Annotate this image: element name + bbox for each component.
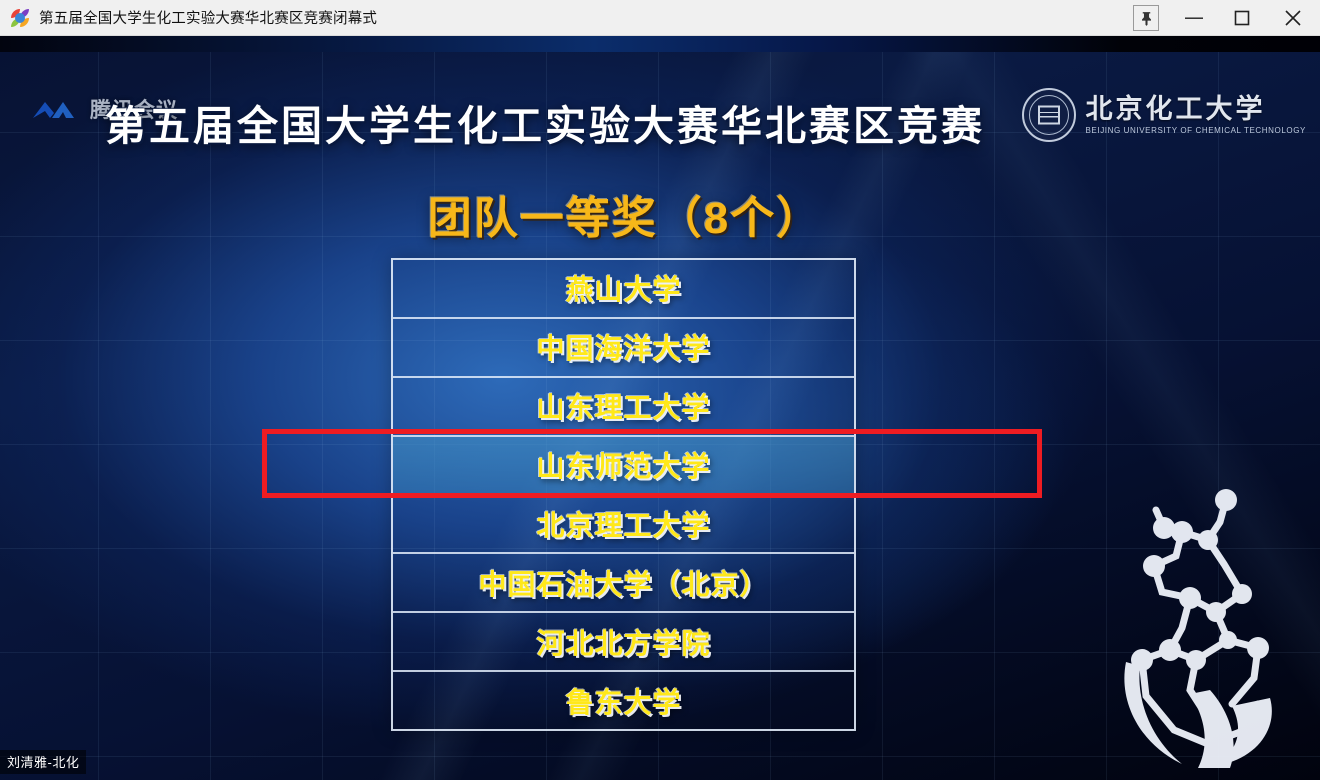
buct-seal-icon	[1022, 88, 1076, 142]
molecule-structure-icon	[1112, 482, 1302, 772]
university-logo-names: 北京化工大学 BEIJING UNIVERSITY OF CHEMICAL TE…	[1086, 95, 1307, 135]
table-row: 燕山大学	[393, 260, 854, 319]
university-name: 中国海洋大学	[536, 327, 710, 367]
tencent-meeting-pinwheel-icon	[11, 9, 29, 27]
table-row: 中国石油大学（北京）	[393, 554, 854, 613]
slide-top-band	[0, 36, 1320, 52]
university-name: 燕山大学	[565, 268, 681, 308]
participant-name-tag: 刘清雅-北化	[0, 750, 86, 774]
university-name: 北京理工大学	[536, 504, 710, 544]
meeting-window: 第五届全国大学生化工实验大赛华北赛区竞赛闭幕式	[0, 0, 1320, 780]
window-controls	[1122, 0, 1320, 36]
maximize-button[interactable]	[1218, 0, 1266, 36]
table-row: 鲁东大学	[393, 672, 854, 729]
university-name: 中国石油大学（北京）	[478, 563, 768, 603]
university-name: 鲁东大学	[565, 681, 681, 721]
table-row: 河北北方学院	[393, 613, 854, 672]
slide-header-title: 第五届全国大学生化工实验大赛华北赛区竞赛	[0, 92, 1090, 152]
table-row: 北京理工大学	[393, 496, 854, 555]
award-winner-table: 燕山大学 中国海洋大学 山东理工大学 山东师范大学 北京理工大学 中国石油大学（…	[391, 258, 856, 731]
table-row: 山东理工大学	[393, 378, 854, 437]
university-name: 河北北方学院	[536, 622, 710, 662]
window-titlebar: 第五届全国大学生化工实验大赛华北赛区竞赛闭幕式	[0, 0, 1320, 36]
shared-screen-stage: 腾讯会议 第五届全国大学生化工实验大赛华北赛区竞赛 北京化工大学 BEIJING…	[0, 36, 1320, 780]
table-row-highlighted: 山东师范大学	[393, 437, 854, 496]
pin-button[interactable]	[1122, 0, 1170, 36]
university-name-cn: 北京化工大学	[1086, 95, 1307, 123]
university-logo: 北京化工大学 BEIJING UNIVERSITY OF CHEMICAL TE…	[1022, 86, 1307, 144]
university-name: 山东理工大学	[536, 386, 710, 426]
university-name: 山东师范大学	[536, 445, 710, 485]
university-name-en: BEIJING UNIVERSITY OF CHEMICAL TECHNOLOG…	[1086, 126, 1307, 135]
minimize-button[interactable]	[1170, 0, 1218, 36]
table-row: 中国海洋大学	[393, 319, 854, 378]
window-title: 第五届全国大学生化工实验大赛华北赛区竞赛闭幕式	[39, 7, 377, 28]
award-title: 团队一等奖（8个）	[0, 182, 1250, 246]
pin-icon	[1133, 5, 1159, 31]
close-button[interactable]	[1266, 0, 1320, 36]
